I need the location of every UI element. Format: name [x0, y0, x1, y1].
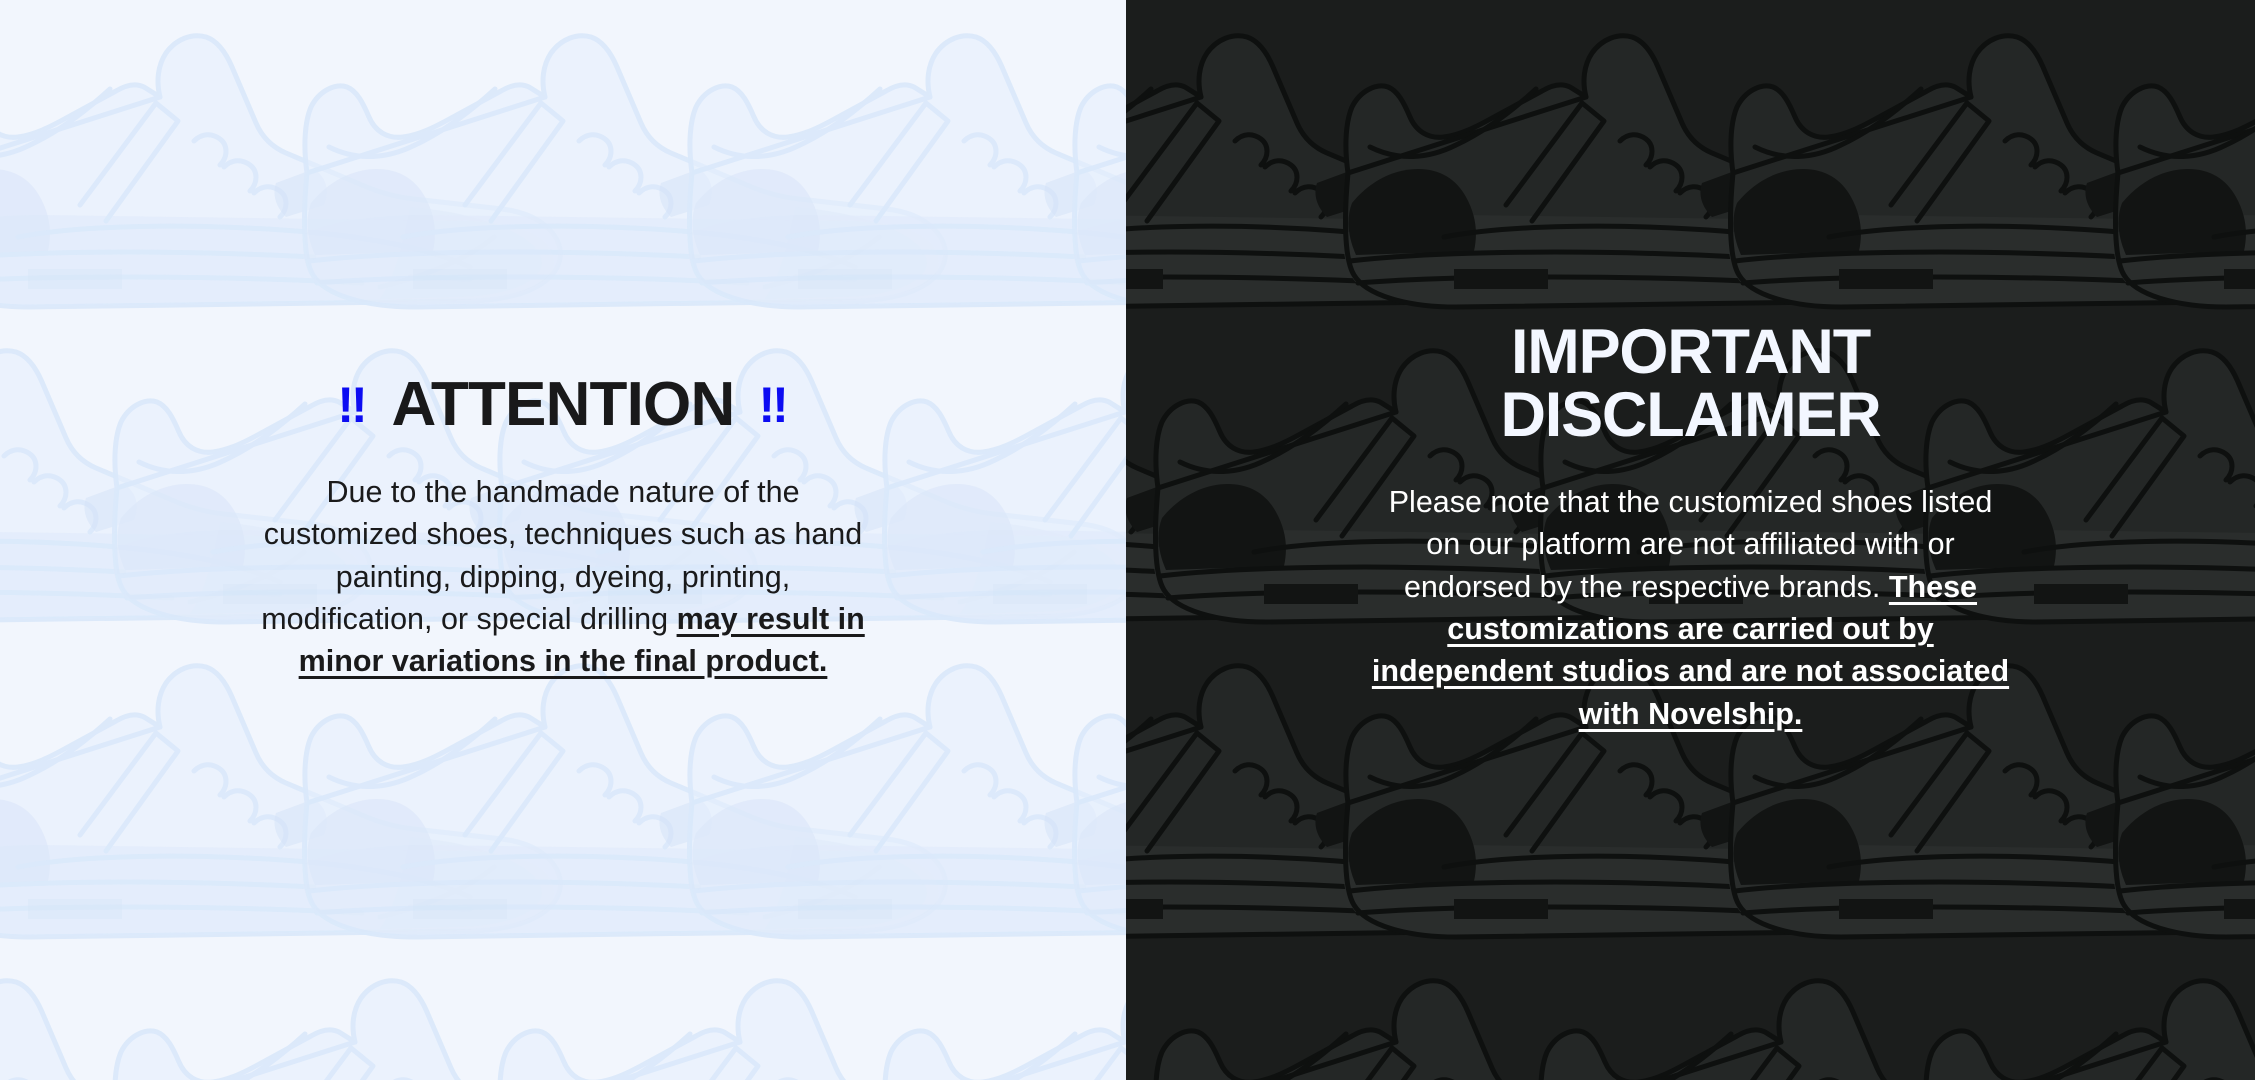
- attention-headline: ‼ATTENTION‼: [120, 375, 1006, 435]
- disclaimer-headline: IMPORTANT DISCLAIMER: [1226, 321, 2155, 447]
- disclaimer-content: IMPORTANT DISCLAIMER Please note that th…: [1126, 321, 2255, 735]
- double-exclamation-icon-right: ‼: [758, 377, 788, 433]
- attention-headline-text: ATTENTION: [392, 370, 735, 439]
- disclaimer-headline-line-2: DISCLAIMER: [1226, 384, 2155, 447]
- attention-body: Due to the handmade nature of the custom…: [253, 471, 873, 683]
- disclaimer-panel: IMPORTANT DISCLAIMER Please note that th…: [1126, 0, 2255, 1080]
- attention-panel: ‼ATTENTION‼ Due to the handmade nature o…: [0, 0, 1126, 1080]
- attention-content: ‼ATTENTION‼ Due to the handmade nature o…: [0, 375, 1126, 682]
- disclaimer-banner: ‼ATTENTION‼ Due to the handmade nature o…: [0, 0, 2255, 1080]
- double-exclamation-icon-left: ‼: [337, 377, 367, 433]
- disclaimer-headline-line-1: IMPORTANT: [1226, 321, 2155, 384]
- disclaimer-body: Please note that the customized shoes li…: [1371, 481, 2011, 735]
